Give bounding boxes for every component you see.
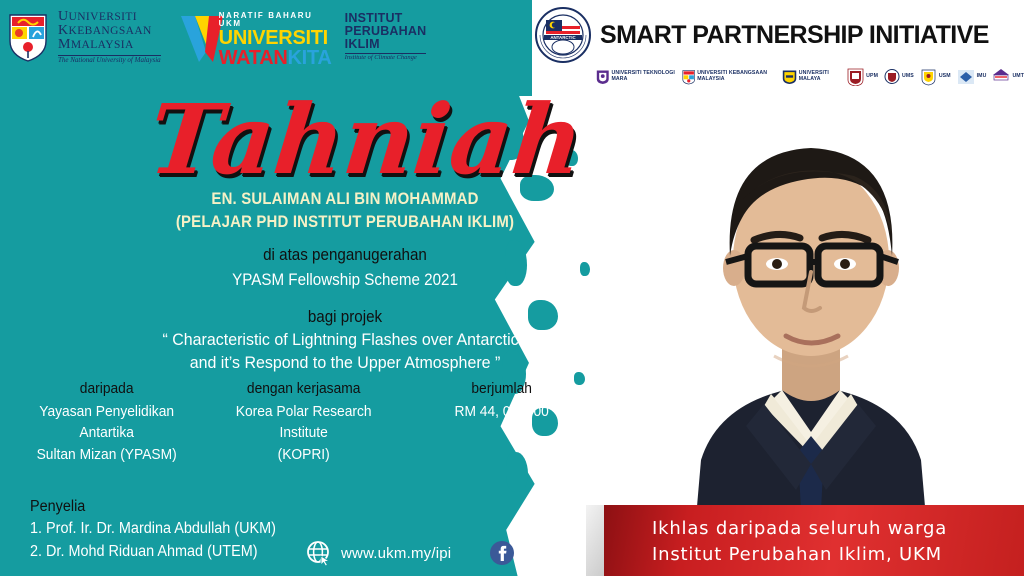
watan-kita: WATANKITA bbox=[219, 48, 332, 68]
spacer bbox=[95, 293, 595, 305]
partner-name-imu: IMU bbox=[977, 74, 987, 79]
smart-partnership-header: ANTARCTIC SMART PARTNERSHIP INITIATIVE U… bbox=[534, 6, 1024, 86]
column-kerjasama: dengan kerjasama Korea Polar Research In… bbox=[205, 378, 402, 466]
award-intro: di atas penganugerahan bbox=[115, 243, 575, 268]
partner-name-upm: UPM bbox=[866, 74, 878, 79]
ipi-wordmark: INSTITUT PERUBAHAN IKLIM Institute of Cl… bbox=[345, 12, 427, 62]
partner-name-umt: UMT bbox=[1012, 74, 1024, 79]
awardee-photo bbox=[596, 60, 1024, 576]
partner-logo-usm: USM bbox=[920, 67, 951, 86]
partner-logo-uitm: UNIVERSITI TEKNOLOGI MARA bbox=[596, 67, 676, 86]
column-line: RM 44, 000. 00 bbox=[411, 401, 593, 423]
funding-columns: daripada Yayasan Penyelidikan Antartika … bbox=[8, 378, 600, 466]
ukm-crest-icon bbox=[8, 11, 48, 63]
awardee-block: EN. SULAIMAN ALI BIN MOHAMMAD (PELAJAR P… bbox=[138, 188, 552, 234]
headline-tahniah: Tahniah bbox=[145, 92, 535, 188]
closing-ribbon: Ikhlas daripada seluruh warga Institut P… bbox=[604, 505, 1024, 576]
seal-mid-text: ANTARCTIC bbox=[550, 35, 576, 40]
partner-name-um: UNIVERSITI MALAYA bbox=[799, 71, 841, 82]
footer-contacts: www.ukm.my/ipi ipiukm bbox=[306, 540, 569, 566]
antarctic-research-foundation-seal-icon: ANTARCTIC bbox=[534, 6, 592, 64]
awardee-role: (PELAJAR PHD INSTITUT PERUBAHAN IKLIM) bbox=[138, 211, 552, 234]
supervisor-item: 1. Prof. Ir. Dr. Mardina Abdullah (UKM) bbox=[30, 518, 276, 540]
ukm-tagline: The National University of Malaysia bbox=[58, 55, 161, 65]
partner-logo-imu: IMU bbox=[957, 68, 987, 86]
column-line: Institute bbox=[213, 422, 395, 444]
awardee-name: EN. SULAIMAN ALI BIN MOHAMMAD bbox=[138, 188, 552, 211]
partner-logo-ukm: UNIVERSITI KEBANGSAAN MALAYSIA bbox=[682, 67, 776, 86]
partner-name-uitm: UNIVERSITI TEKNOLOGI MARA bbox=[612, 71, 676, 82]
award-body: di atas penganugerahan YPASM Fellowship … bbox=[95, 243, 595, 375]
project-intro: bagi projek bbox=[115, 305, 575, 330]
column-line: Yayasan Penyelidikan bbox=[16, 401, 198, 423]
ipi-line-3: IKLIM bbox=[345, 38, 427, 51]
watan-word: WATAN bbox=[219, 47, 288, 69]
spi-title: SMART PARTNERSHIP INITIATIVE bbox=[600, 21, 989, 50]
header-left-logos: UUNIVERSITI KKEBANGSAAN MMALAYSIA The Na… bbox=[8, 8, 426, 66]
naratif-tag: NARATIF BAHARU UKM bbox=[219, 12, 332, 28]
partner-name-ukm: UNIVERSITI KEBANGSAAN MALAYSIA bbox=[697, 71, 776, 82]
poster-canvas: UUNIVERSITI KKEBANGSAAN MMALAYSIA The Na… bbox=[0, 0, 1024, 576]
column-berjumlah: berjumlah RM 44, 000. 00 bbox=[403, 378, 600, 466]
column-line: Korea Polar Research bbox=[213, 401, 395, 423]
supervisors-heading: Penyelia bbox=[30, 496, 276, 518]
partner-logo-upm: UPM bbox=[847, 67, 878, 86]
column-heading: daripada bbox=[16, 378, 198, 401]
ukm-line-1: UUNIVERSITI bbox=[58, 10, 161, 24]
partner-university-logos: UNIVERSITI TEKNOLOGI MARA UNIVERSITI KEB… bbox=[596, 67, 1024, 86]
facebook-icon bbox=[489, 540, 515, 566]
project-title-line-2: and it’s Respond to the Upper Atmosphere… bbox=[110, 352, 580, 375]
column-line: (KOPRI) bbox=[213, 444, 395, 466]
ukm-line-3: MMALAYSIA bbox=[58, 38, 161, 52]
award-name: YPASM Fellowship Scheme 2021 bbox=[115, 268, 575, 293]
watan-text: NARATIF BAHARU UKM UNIVERSITI WATANKITA bbox=[219, 12, 332, 68]
column-line: Antartika bbox=[16, 422, 198, 444]
ukm-line-2: KKEBANGSAAN bbox=[58, 24, 161, 38]
facebook-label[interactable]: ipiukm bbox=[524, 545, 569, 562]
partner-logo-um: UNIVERSITI MALAYA bbox=[782, 67, 841, 86]
ukm-wordmark: UUNIVERSITI KKEBANGSAAN MMALAYSIA The Na… bbox=[58, 10, 161, 64]
watan-kita-logo: NARATIF BAHARU UKM UNIVERSITI WATANKITA bbox=[179, 8, 329, 66]
partner-logo-umt: UMT bbox=[992, 67, 1024, 86]
supervisors-block: Penyelia 1. Prof. Ir. Dr. Mardina Abdull… bbox=[30, 496, 294, 563]
partner-logo-ums: UMS bbox=[884, 68, 914, 86]
kita-word: KITA bbox=[288, 47, 332, 69]
column-daripada: daripada Yayasan Penyelidikan Antartika … bbox=[8, 378, 205, 466]
ribbon-line-2: Institut Perubahan Iklim, UKM bbox=[652, 542, 947, 568]
partner-name-ums: UMS bbox=[902, 74, 914, 79]
project-title-line-1: “ Characteristic of Lightning Flashes ov… bbox=[110, 329, 580, 352]
partner-name-usm: USM bbox=[939, 74, 951, 79]
column-heading: berjumlah bbox=[411, 378, 593, 401]
website-label[interactable]: www.ukm.my/ipi bbox=[341, 545, 451, 562]
column-line: Sultan Mizan (YPASM) bbox=[16, 444, 198, 466]
spi-title-row: ANTARCTIC SMART PARTNERSHIP INITIATIVE bbox=[534, 6, 1024, 64]
ribbon-text: Ikhlas daripada seluruh warga Institut P… bbox=[652, 516, 947, 568]
ribbon-line-1: Ikhlas daripada seluruh warga bbox=[652, 516, 947, 542]
ipi-tagline: Institute of Climate Change bbox=[345, 53, 427, 62]
watan-universiti: UNIVERSITI bbox=[219, 28, 332, 48]
globe-icon bbox=[306, 540, 332, 566]
column-heading: dengan kerjasama bbox=[213, 378, 395, 401]
supervisor-item: 2. Dr. Mohd Riduan Ahmad (UTEM) bbox=[30, 541, 276, 563]
